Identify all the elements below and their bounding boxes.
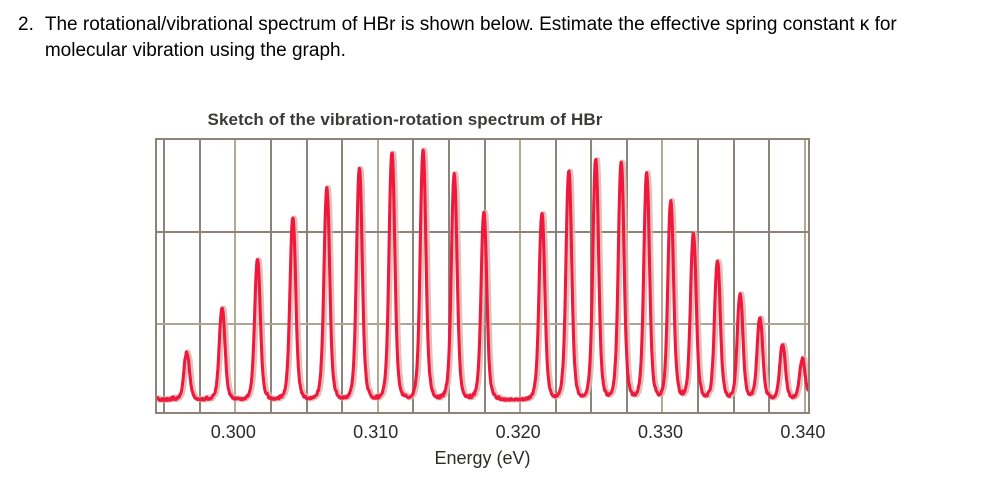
x-tick-label: 0.310 [353,422,398,443]
question-block: 2. The rotational/vibrational spectrum o… [18,12,958,64]
spectrum-trace [157,140,808,412]
question-text: The rotational/vibrational spectrum of H… [45,12,945,64]
x-tick-label: 0.300 [211,422,256,443]
x-tick-label: 0.320 [496,422,541,443]
x-tick-label: 0.340 [780,422,825,443]
x-axis-tick-labels: 0.3000.3100.3200.3300.340 [0,422,982,448]
spectrum-figure: Sketch of the vibration-rotation spectru… [0,100,982,493]
question-number: 2. [18,12,34,38]
plot-area [155,138,810,414]
chart-title: Sketch of the vibration-rotation spectru… [0,110,982,130]
x-axis-label: Energy (eV) [155,448,810,469]
x-tick-label: 0.330 [638,422,683,443]
